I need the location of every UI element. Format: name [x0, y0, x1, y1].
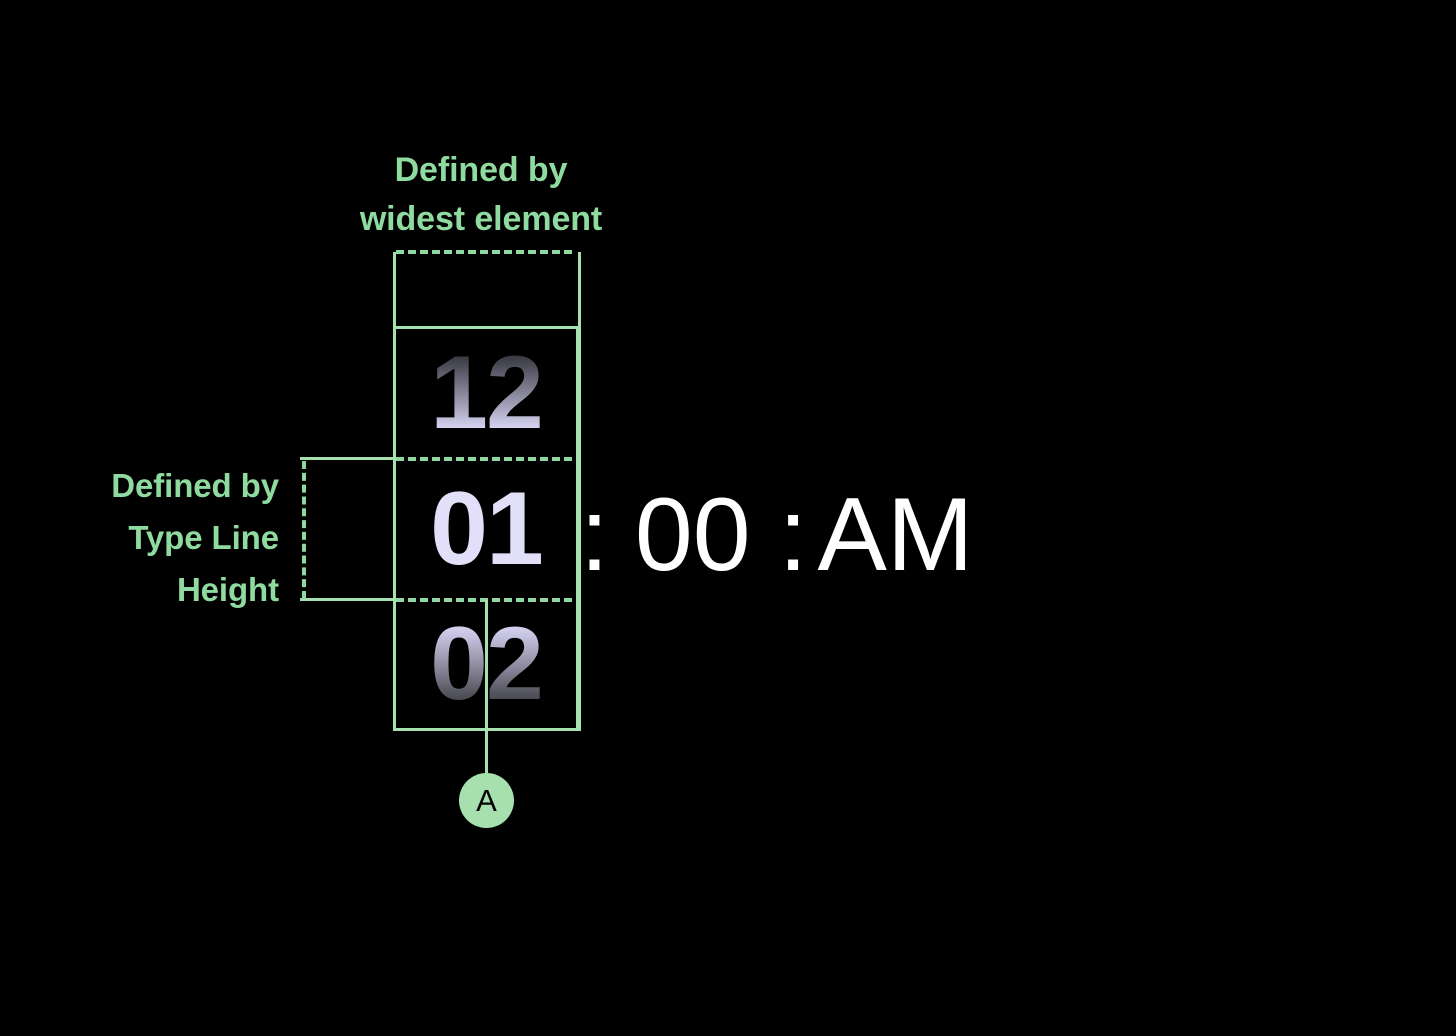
guide-inner-right-edge [576, 328, 578, 729]
annotation-widest-element: Defined by widest element [316, 146, 646, 244]
hour-option-previous[interactable]: 12 [396, 328, 576, 458]
hour-option-selected-label: 01 [430, 477, 542, 581]
time-display-remainder: : 00 : AM [580, 470, 974, 600]
time-separator-2: : [779, 483, 808, 587]
time-minutes[interactable]: 00 [635, 483, 751, 587]
time-separator-1: : [580, 483, 609, 587]
callout-marker-a[interactable]: A [459, 773, 514, 828]
guide-bracket-bottom [300, 598, 396, 601]
hour-option-next-label: 02 [430, 612, 542, 716]
guide-bracket-dashed [302, 461, 306, 599]
hour-wheel[interactable]: 12 01 02 [396, 328, 576, 728]
annotation-type-line-height: Defined by Type Line Height [0, 460, 279, 616]
hour-option-selected[interactable]: 01 [396, 458, 576, 599]
guide-box-top-dashed [396, 250, 572, 254]
guide-bracket-top [300, 457, 396, 460]
hour-option-previous-label: 12 [430, 341, 542, 445]
time-meridiem[interactable]: AM [818, 483, 974, 587]
hour-option-next[interactable]: 02 [396, 599, 576, 729]
spec-canvas: Defined by widest element Defined by Typ… [0, 0, 1456, 1036]
